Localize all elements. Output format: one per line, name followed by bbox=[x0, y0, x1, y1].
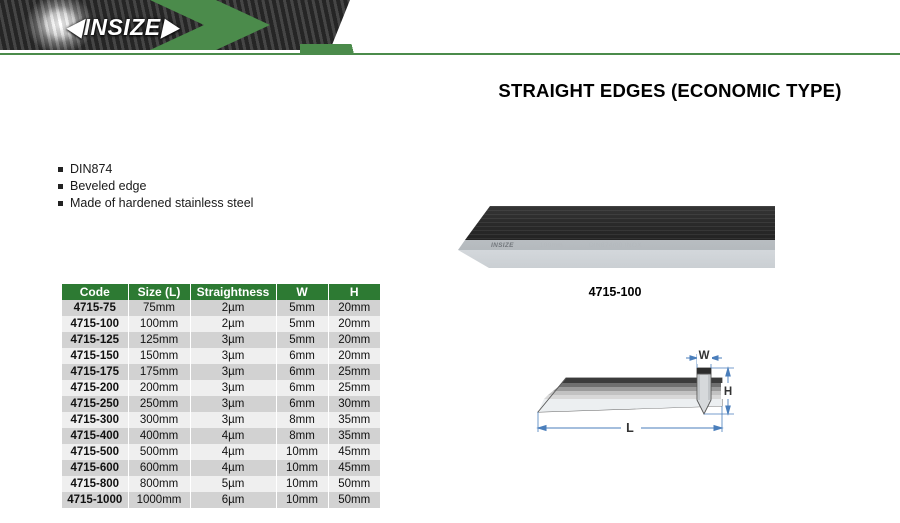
cell-straightness: 4µm bbox=[190, 428, 276, 444]
cell-code: 4715-600 bbox=[62, 460, 128, 476]
feature-label: DIN874 bbox=[70, 162, 112, 177]
square-bullet-icon bbox=[58, 196, 70, 211]
dimension-label-w: W bbox=[699, 350, 710, 362]
drawing-band-5 bbox=[544, 395, 722, 399]
specification-table: Code Size (L) Straightness W H 4715-7575… bbox=[62, 284, 380, 508]
page-title: STRAIGHT EDGES (ECONOMIC TYPE) bbox=[440, 80, 900, 102]
cell-size: 125mm bbox=[128, 332, 190, 348]
cell-h: 35mm bbox=[328, 428, 380, 444]
table-header: Code Size (L) Straightness W H bbox=[62, 284, 380, 300]
cell-size: 250mm bbox=[128, 396, 190, 412]
cell-straightness: 2µm bbox=[190, 300, 276, 316]
column-header-h: H bbox=[328, 284, 380, 300]
square-bullet-icon bbox=[58, 162, 70, 177]
table-row: 4715-600600mm4µm10mm45mm bbox=[62, 460, 380, 476]
square-bullet-icon bbox=[58, 179, 70, 194]
table-row: 4715-400400mm4µm8mm35mm bbox=[62, 428, 380, 444]
dimension-label-h: H bbox=[724, 386, 732, 398]
feature-label: Made of hardened stainless steel bbox=[70, 196, 253, 211]
cell-straightness: 3µm bbox=[190, 396, 276, 412]
table-row: 4715-100100mm2µm5mm20mm bbox=[62, 316, 380, 332]
cell-w: 5mm bbox=[276, 300, 328, 316]
table-row: 4715-250250mm3µm6mm30mm bbox=[62, 396, 380, 412]
table-row: 4715-175175mm3µm6mm25mm bbox=[62, 364, 380, 380]
drawing-front-face bbox=[538, 399, 722, 412]
cell-straightness: 3µm bbox=[190, 412, 276, 428]
table-header-row: Code Size (L) Straightness W H bbox=[62, 284, 380, 300]
table-row: 4715-800800mm5µm10mm50mm bbox=[62, 476, 380, 492]
cell-w: 8mm bbox=[276, 412, 328, 428]
cell-size: 800mm bbox=[128, 476, 190, 492]
cell-code: 4715-300 bbox=[62, 412, 128, 428]
cell-w: 5mm bbox=[276, 316, 328, 332]
cell-h: 20mm bbox=[328, 316, 380, 332]
cell-straightness: 2µm bbox=[190, 316, 276, 332]
table-row: 4715-125125mm3µm5mm20mm bbox=[62, 332, 380, 348]
cell-code: 4715-1000 bbox=[62, 492, 128, 508]
cell-size: 400mm bbox=[128, 428, 190, 444]
list-item: Beveled edge bbox=[58, 179, 388, 194]
cell-code: 4715-150 bbox=[62, 348, 128, 364]
column-header-straightness: Straightness bbox=[190, 284, 276, 300]
cross-section-top-cap bbox=[697, 368, 711, 374]
cell-h: 50mm bbox=[328, 492, 380, 508]
cell-size: 300mm bbox=[128, 412, 190, 428]
cell-straightness: 4µm bbox=[190, 444, 276, 460]
table-body: 4715-7575mm2µm5mm20mm4715-100100mm2µm5mm… bbox=[62, 300, 380, 508]
cell-w: 6mm bbox=[276, 364, 328, 380]
cell-code: 4715-500 bbox=[62, 444, 128, 460]
cell-w: 10mm bbox=[276, 444, 328, 460]
cell-w: 6mm bbox=[276, 348, 328, 364]
engraved-standard: DIN874/00 INOX bbox=[589, 242, 642, 249]
cell-w: 10mm bbox=[276, 476, 328, 492]
technical-drawing: L W H bbox=[478, 340, 778, 440]
cell-w: 10mm bbox=[276, 492, 328, 508]
table-row: 4715-7575mm2µm5mm20mm bbox=[62, 300, 380, 316]
cell-size: 150mm bbox=[128, 348, 190, 364]
cell-w: 6mm bbox=[276, 396, 328, 412]
cell-code: 4715-250 bbox=[62, 396, 128, 412]
column-header-code: Code bbox=[62, 284, 128, 300]
dimension-label-l: L bbox=[626, 421, 634, 435]
product-photo-engraving: INSIZE 100mm DIN874/00 INOX bbox=[491, 241, 739, 250]
technical-drawing-svg: L W H bbox=[478, 340, 778, 440]
insize-logo: ◀ INSIZE ▶ bbox=[42, 14, 202, 40]
cell-code: 4715-175 bbox=[62, 364, 128, 380]
cell-h: 45mm bbox=[328, 460, 380, 476]
cell-h: 50mm bbox=[328, 476, 380, 492]
cell-straightness: 3µm bbox=[190, 380, 276, 396]
cell-code: 4715-125 bbox=[62, 332, 128, 348]
cell-straightness: 3µm bbox=[190, 364, 276, 380]
cell-code: 4715-400 bbox=[62, 428, 128, 444]
logo-wordmark: INSIZE bbox=[82, 14, 161, 41]
cell-straightness: 6µm bbox=[190, 492, 276, 508]
list-item: DIN874 bbox=[58, 162, 388, 177]
logo-right-arrow-icon: ▶ bbox=[162, 15, 179, 39]
product-photo-caption: 4715-100 bbox=[455, 285, 775, 299]
cell-size: 200mm bbox=[128, 380, 190, 396]
page-header: ◀ INSIZE ▶ bbox=[0, 0, 900, 55]
feature-list: DIN874 Beveled edge Made of hardened sta… bbox=[58, 162, 388, 213]
list-item: Made of hardened stainless steel bbox=[58, 196, 388, 211]
engraved-logo: INSIZE bbox=[491, 242, 514, 249]
cell-h: 20mm bbox=[328, 348, 380, 364]
cell-h: 20mm bbox=[328, 300, 380, 316]
table-row: 4715-200200mm3µm6mm25mm bbox=[62, 380, 380, 396]
cell-h: 20mm bbox=[328, 332, 380, 348]
table-row: 4715-10001000mm6µm10mm50mm bbox=[62, 492, 380, 508]
cell-h: 35mm bbox=[328, 412, 380, 428]
cell-h: 30mm bbox=[328, 396, 380, 412]
cell-code: 4715-800 bbox=[62, 476, 128, 492]
header-rule bbox=[0, 53, 900, 55]
cell-code: 4715-200 bbox=[62, 380, 128, 396]
cell-size: 175mm bbox=[128, 364, 190, 380]
cell-straightness: 5µm bbox=[190, 476, 276, 492]
cell-code: 4715-100 bbox=[62, 316, 128, 332]
cell-w: 6mm bbox=[276, 380, 328, 396]
cell-straightness: 3µm bbox=[190, 348, 276, 364]
cell-size: 75mm bbox=[128, 300, 190, 316]
cell-size: 600mm bbox=[128, 460, 190, 476]
product-photo: INSIZE 100mm DIN874/00 INOX bbox=[455, 198, 775, 283]
logo-left-arrow-icon: ◀ bbox=[66, 15, 83, 39]
cell-straightness: 4µm bbox=[190, 460, 276, 476]
drawing-band-4 bbox=[548, 391, 722, 395]
cell-code: 4715-75 bbox=[62, 300, 128, 316]
cell-w: 8mm bbox=[276, 428, 328, 444]
cell-h: 25mm bbox=[328, 380, 380, 396]
cell-straightness: 3µm bbox=[190, 332, 276, 348]
table-row: 4715-500500mm4µm10mm45mm bbox=[62, 444, 380, 460]
column-header-size: Size (L) bbox=[128, 284, 190, 300]
cell-w: 5mm bbox=[276, 332, 328, 348]
cell-size: 500mm bbox=[128, 444, 190, 460]
cell-size: 100mm bbox=[128, 316, 190, 332]
table-row: 4715-300300mm3µm8mm35mm bbox=[62, 412, 380, 428]
cell-size: 1000mm bbox=[128, 492, 190, 508]
cell-h: 25mm bbox=[328, 364, 380, 380]
cell-h: 45mm bbox=[328, 444, 380, 460]
column-header-w: W bbox=[276, 284, 328, 300]
engraved-size: 100mm bbox=[540, 242, 563, 249]
table-row: 4715-150150mm3µm6mm20mm bbox=[62, 348, 380, 364]
drawing-isometric-body bbox=[538, 378, 722, 412]
feature-label: Beveled edge bbox=[70, 179, 146, 194]
cell-w: 10mm bbox=[276, 460, 328, 476]
